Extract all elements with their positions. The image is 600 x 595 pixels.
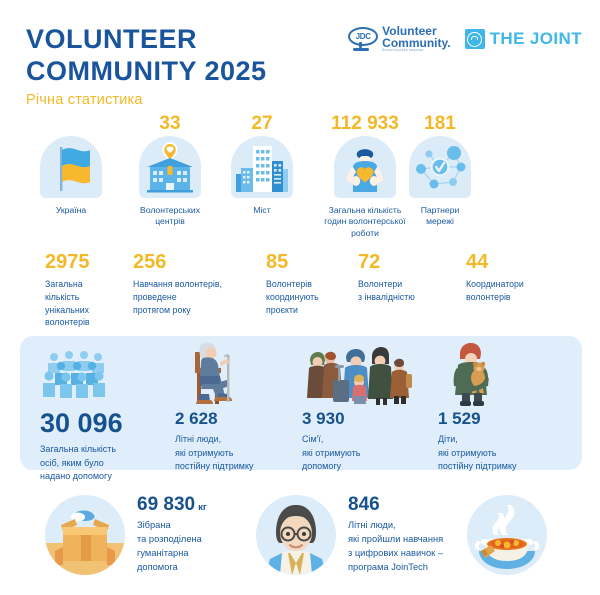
stat-partners-number: 181: [408, 112, 472, 136]
stat-volunteer-hours-caption: Загальна кількість годин волонтерської р…: [306, 205, 424, 239]
infographic-page: VOLUNTEER COMMUNITY 2025 Річна статистик…: [0, 0, 600, 595]
stat-volunteer-hours: 112 933 Загальна кількість годин волонте…: [306, 112, 424, 239]
panel-stat-families: 3 930 Сім'ї, які отримують допомогу: [302, 338, 442, 474]
volunteer-heart-hands-icon: [334, 136, 396, 198]
panel-stat-total-helped: 30 096 Загальна кількість осіб, яким бул…: [40, 348, 180, 484]
stat-volunteer-centres: 33: [130, 112, 210, 228]
stat-jointech-caption: Літні люди, які пройшли навчання з цифро…: [348, 519, 443, 575]
panel-stat-children: 1 529 Діти, які отримують постійну підтр…: [438, 338, 573, 474]
humanitarian-aid-box-icon: [45, 495, 125, 575]
stat-partners: 181 Партнери мережі: [408, 112, 472, 228]
beneficiaries-panel: 30 096 Загальна кількість осіб, яким бул…: [20, 336, 582, 470]
partner-network-icon: [409, 136, 471, 198]
panel-stat-families-caption: Сім'ї, які отримують допомогу: [302, 433, 442, 474]
panel-stat-elderly: 2 628 Літні люди, які отримують постійну…: [175, 338, 300, 474]
panel-stat-total-helped-caption: Загальна кількість осіб, яким було надан…: [40, 443, 180, 484]
header: VOLUNTEER COMMUNITY 2025 Річна статистик…: [0, 0, 600, 108]
stat-ukraine-number: [39, 112, 103, 136]
joint-wordmark: THE JOINT: [490, 29, 582, 49]
stat-trainings-number: 256: [133, 252, 243, 272]
stat-volunteers-with-disability-caption: Волонтери з інвалідністю: [358, 278, 453, 304]
panel-stat-elderly-number: 2 628: [175, 410, 300, 427]
aid-unit: кг: [198, 502, 207, 513]
city-buildings-icon: [231, 136, 293, 198]
stat-volunteers-with-disability: 72 Волонтери з інвалідністю: [358, 252, 453, 304]
stat-coordinators-number: 44: [466, 252, 566, 272]
child-with-toy-icon: [438, 338, 573, 410]
menorah-glyph: [467, 32, 482, 47]
family-group-icon: [302, 338, 442, 410]
stat-hot-meals: [467, 495, 559, 575]
ukraine-flag-icon: [40, 136, 102, 198]
icon-stats-row: Україна 33: [0, 112, 600, 247]
stat-project-coordinators-caption: Волонтерів координують проєкти: [266, 278, 346, 316]
stat-volunteers-with-disability-number: 72: [358, 252, 453, 272]
jdc-logo-wordmark: Volunteer Community. Волонтерська мережа: [382, 25, 450, 53]
jdc-microphone-icon: JDC: [347, 24, 377, 54]
jdc-volunteer-community-logo: JDC Volunteer Community. Волонтерська ме…: [347, 24, 450, 54]
stat-trainings: 256 Навчання волонтерів, проведене протя…: [133, 252, 243, 316]
jointech-value: 846: [348, 494, 380, 515]
stat-cities-caption: Міст: [229, 205, 295, 216]
logo-group: JDC Volunteer Community. Волонтерська ме…: [347, 24, 582, 54]
stat-jointech: 846 Літні люди, які пройшли навчання з ц…: [256, 495, 443, 575]
joint-menorah-icon: [465, 29, 485, 49]
stat-coordinators-caption: Координатори волонтерів: [466, 278, 566, 304]
stat-ukraine-caption: Україна: [39, 205, 103, 216]
page-title-line2: COMMUNITY 2025: [26, 56, 267, 88]
stat-humanitarian-aid: 69 830кг Зібрана та розподілена гуманіта…: [45, 495, 207, 575]
stat-ukraine: Україна: [39, 112, 103, 216]
stat-unique-volunteers-number: 2975: [45, 252, 125, 272]
the-joint-logo: THE JOINT: [465, 29, 582, 49]
panel-stat-children-caption: Діти, які отримують постійну підтримку: [438, 433, 573, 474]
stat-humanitarian-aid-number: 69 830кг: [137, 495, 207, 514]
bottom-stats-row: 69 830кг Зібрана та розподілена гуманіта…: [0, 487, 600, 595]
jdc-monogram: JDC: [348, 27, 378, 46]
jdc-mic-base: [353, 48, 369, 51]
panel-stat-children-number: 1 529: [438, 410, 573, 427]
stat-cities-number: 27: [229, 112, 295, 136]
stat-jointech-text: 846 Літні люди, які пройшли навчання з ц…: [348, 495, 443, 575]
stat-jointech-number: 846: [348, 495, 443, 514]
stat-cities: 27 Міст: [229, 112, 295, 216]
stat-unique-volunteers-caption: Загальна кількість унікальних волонтерів: [45, 278, 125, 329]
stat-volunteer-centres-number: 33: [130, 112, 210, 136]
title-block: VOLUNTEER COMMUNITY 2025 Річна статистик…: [26, 24, 267, 108]
stat-unique-volunteers: 2975 Загальна кількість унікальних волон…: [45, 252, 125, 329]
stat-project-coordinators-number: 85: [266, 252, 346, 272]
number-stats-row: 2975 Загальна кількість унікальних волон…: [0, 252, 600, 330]
panel-stat-total-helped-number: 30 096: [40, 410, 180, 437]
page-title-line1: VOLUNTEER: [26, 24, 267, 56]
page-subtitle: Річна статистика: [26, 92, 267, 108]
stat-coordinators: 44 Координатори волонтерів: [466, 252, 566, 304]
stat-humanitarian-aid-text: 69 830кг Зібрана та розподілена гуманіта…: [137, 495, 207, 575]
elderly-person-sitting-icon: [175, 338, 300, 410]
volunteer-center-building-icon: [139, 136, 201, 198]
elderly-woman-glasses-icon: [256, 495, 336, 575]
stat-volunteer-hours-number: 112 933: [306, 112, 424, 136]
stat-humanitarian-aid-caption: Зібрана та розподілена гуманітарна допом…: [137, 519, 207, 575]
stat-volunteer-centres-caption: Волонтерських центрів: [130, 205, 210, 228]
hot-soup-bowl-icon: [467, 495, 547, 575]
stat-trainings-caption: Навчання волонтерів, проведене протягом …: [133, 278, 243, 316]
stat-partners-caption: Партнери мережі: [408, 205, 472, 228]
panel-stat-families-number: 3 930: [302, 410, 442, 427]
aid-value: 69 830: [137, 494, 195, 515]
panel-stat-elderly-caption: Літні люди, які отримують постійну підтр…: [175, 433, 300, 474]
stat-project-coordinators: 85 Волонтерів координують проєкти: [266, 252, 346, 316]
crowd-people-icon: [40, 348, 116, 410]
